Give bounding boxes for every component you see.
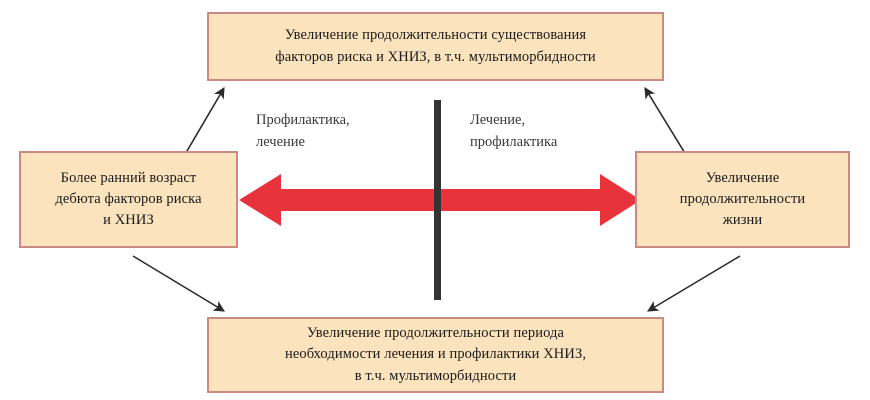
node-left-label: Более ранний возраст дебюта факторов рис… <box>55 168 201 231</box>
node-top-box: Увеличение продолжительности существован… <box>207 12 664 81</box>
node-bottom-label: Увеличение продолжительности периода нео… <box>285 323 586 386</box>
vertical-divider-bar <box>434 100 441 300</box>
center-label-right: Лечение, профилактика <box>470 110 557 154</box>
node-left-box: Более ранний возраст дебюта факторов рис… <box>19 151 238 248</box>
diagram-canvas: Увеличение продолжительности существован… <box>0 0 870 400</box>
connector-right-to-bottom <box>648 256 740 311</box>
node-top-label: Увеличение продолжительности существован… <box>275 25 596 67</box>
node-right-box: Увеличение продолжительности жизни <box>635 151 850 248</box>
node-bottom-box: Увеличение продолжительности периода нео… <box>207 317 664 393</box>
node-right-label: Увеличение продолжительности жизни <box>680 168 806 231</box>
connector-left-to-bottom <box>133 256 224 311</box>
center-label-left: Профилактика, лечение <box>256 110 350 154</box>
